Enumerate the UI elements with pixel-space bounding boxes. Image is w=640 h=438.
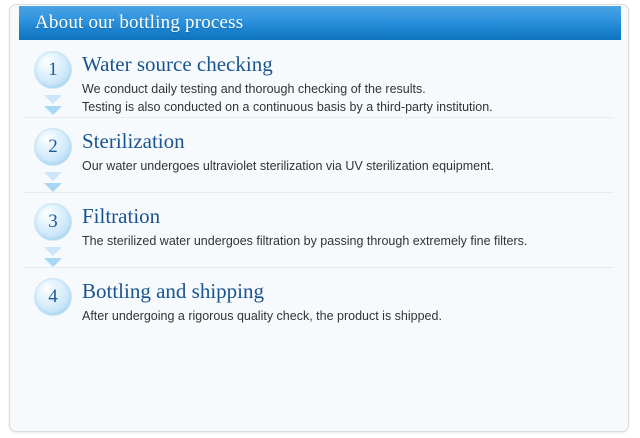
step-title: Water source checking [82, 52, 614, 76]
step-description-line: Testing is also conducted on a continuou… [82, 99, 614, 117]
chevron-down-icon [44, 106, 62, 115]
chevron-down-icon [44, 183, 62, 192]
process-card: About our bottling process 1Water source… [9, 4, 629, 432]
step-number: 3 [48, 212, 58, 232]
step-inner: 3FiltrationThe sterilized water undergoe… [10, 192, 628, 267]
chevron-down-icon [44, 95, 62, 104]
process-step: 4Bottling and shippingAfter undergoing a… [10, 267, 628, 326]
step-connector-arrows [44, 95, 62, 115]
step-inner: 1Water source checkingWe conduct daily t… [10, 40, 628, 117]
step-content: Bottling and shippingAfter undergoing a … [82, 278, 614, 326]
step-badge-column: 1 [24, 51, 82, 115]
step-badge-column: 4 [24, 278, 82, 316]
step-number-badge: 3 [34, 203, 72, 241]
step-badge-column: 2 [24, 128, 82, 192]
step-number: 1 [48, 60, 58, 80]
step-description-line: The sterilized water undergoes filtratio… [82, 233, 614, 251]
step-title: Filtration [82, 204, 614, 228]
step-number: 2 [48, 137, 58, 157]
step-description-line: We conduct daily testing and thorough ch… [82, 81, 614, 99]
process-step: 2SterilizationOur water undergoes ultrav… [10, 117, 628, 192]
process-step-list: 1Water source checkingWe conduct daily t… [10, 40, 628, 431]
step-content: Water source checkingWe conduct daily te… [82, 51, 614, 117]
step-number-badge: 1 [34, 51, 72, 89]
step-connector-arrows [44, 247, 62, 267]
step-inner: 2SterilizationOur water undergoes ultrav… [10, 117, 628, 192]
page-title: About our bottling process [19, 12, 243, 34]
step-badge-column: 3 [24, 203, 82, 267]
step-title: Sterilization [82, 129, 614, 153]
step-connector-arrows [44, 172, 62, 192]
chevron-down-icon [44, 247, 62, 256]
step-inner: 4Bottling and shippingAfter undergoing a… [10, 267, 628, 326]
step-content: FiltrationThe sterilized water undergoes… [82, 203, 614, 251]
step-content: SterilizationOur water undergoes ultravi… [82, 128, 614, 176]
step-number-badge: 4 [34, 278, 72, 316]
card-header: About our bottling process [19, 6, 621, 40]
step-description-line: After undergoing a rigorous quality chec… [82, 308, 614, 326]
chevron-down-icon [44, 258, 62, 267]
process-step: 3FiltrationThe sterilized water undergoe… [10, 192, 628, 267]
chevron-down-icon [44, 172, 62, 181]
process-step: 1Water source checkingWe conduct daily t… [10, 40, 628, 117]
step-number: 4 [48, 287, 58, 307]
step-title: Bottling and shipping [82, 279, 614, 303]
step-number-badge: 2 [34, 128, 72, 166]
step-description-line: Our water undergoes ultraviolet steriliz… [82, 158, 614, 176]
